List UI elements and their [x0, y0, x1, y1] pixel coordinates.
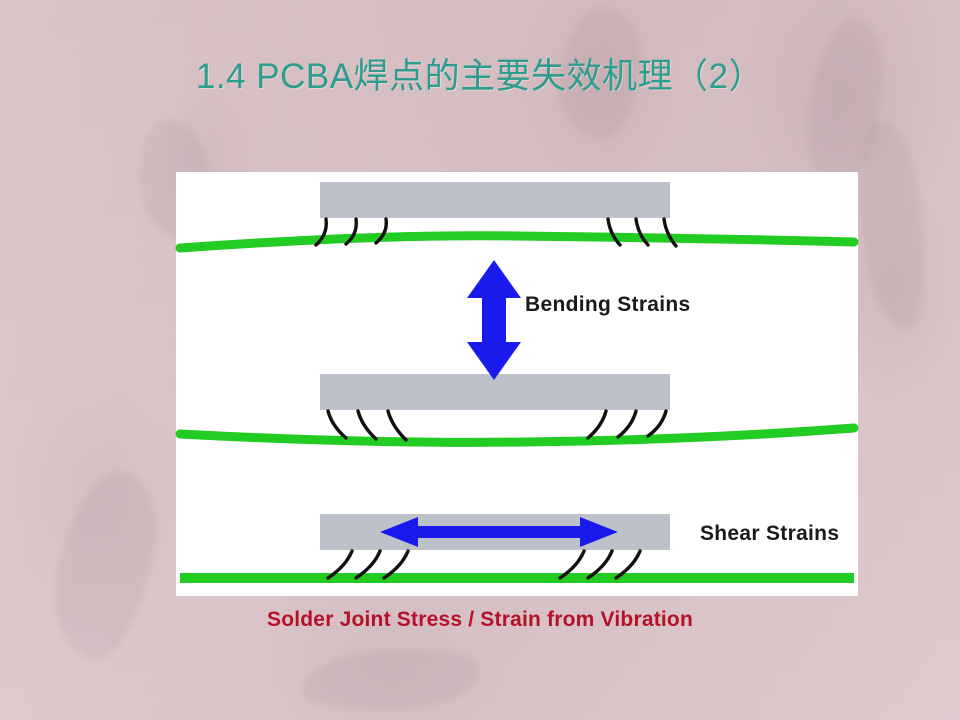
diagram-panel: Bending Strains Shear Strains — [176, 172, 858, 596]
bending-arrow — [467, 260, 521, 380]
solder-joint — [618, 411, 636, 437]
solder-joint — [328, 411, 346, 438]
solder-joint — [388, 411, 406, 440]
paper-texture-smudge — [799, 14, 892, 192]
paper-texture-smudge — [298, 644, 482, 716]
pcb-board-bent-down — [180, 428, 854, 442]
shear-strains-label: Shear Strains — [700, 522, 839, 546]
paper-texture-smudge — [41, 463, 169, 668]
paper-texture-smudge — [851, 117, 933, 332]
pcb-board-bent-up — [180, 236, 854, 248]
slide-title: 1.4 PCBA焊点的主要失效机理（2） — [0, 48, 960, 99]
pcb-diagram: Bending Strains Shear Strains — [176, 172, 858, 596]
solder-joint — [358, 411, 376, 439]
slide-canvas: 1.4 PCBA焊点的主要失效机理（2） — [0, 0, 960, 720]
solder-joint — [588, 411, 606, 438]
bending-strains-label: Bending Strains — [525, 293, 691, 317]
diagram-caption: Solder Joint Stress / Strain from Vibrat… — [0, 608, 960, 632]
shear-arrow — [380, 517, 618, 547]
solder-joint — [648, 411, 666, 436]
